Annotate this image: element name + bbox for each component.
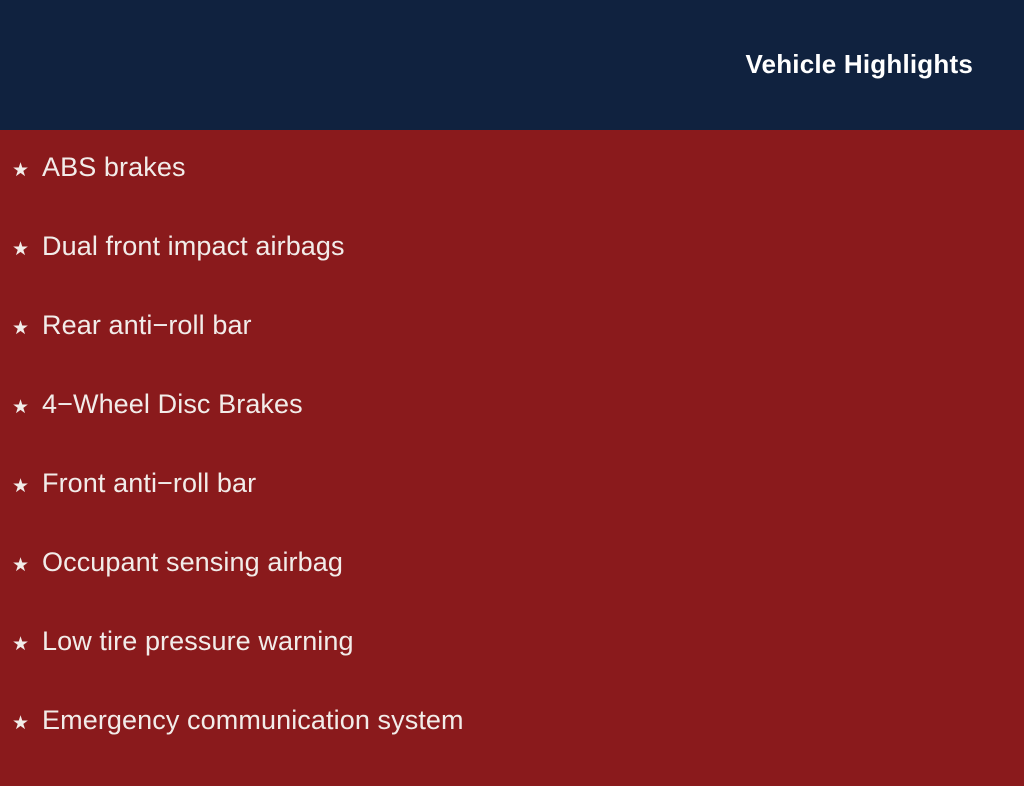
star-icon: ★ [12,319,42,338]
star-icon: ★ [12,161,42,180]
star-icon: ★ [12,240,42,259]
star-icon: ★ [12,398,42,417]
slide-body: ★ ABS brakes ★ Dual front impact airbags… [0,130,1024,768]
page-title: Vehicle Highlights [745,47,973,81]
star-icon: ★ [12,556,42,575]
list-item: ★ Occupant sensing airbag [0,549,1024,628]
slide-header: Vehicle Highlights [0,0,1024,130]
slide-canvas: Vehicle Highlights ★ ABS brakes ★ Dual f… [0,0,1024,768]
highlight-label: Emergency communication system [42,707,464,734]
list-item: ★ Front anti−roll bar [0,470,1024,549]
highlight-label: Front anti−roll bar [42,470,256,497]
highlight-label: 4−Wheel Disc Brakes [42,391,303,418]
list-item: ★ Emergency communication system [0,707,1024,786]
list-item: ★ Rear anti−roll bar [0,312,1024,391]
highlight-label: ABS brakes [42,154,186,181]
list-item: ★ ABS brakes [0,154,1024,233]
highlight-label: Dual front impact airbags [42,233,345,260]
highlight-label: Low tire pressure warning [42,628,354,655]
list-item: ★ 4−Wheel Disc Brakes [0,391,1024,470]
highlight-label: Rear anti−roll bar [42,312,252,339]
vehicle-highlights-list: ★ ABS brakes ★ Dual front impact airbags… [0,130,1024,786]
star-icon: ★ [12,635,42,654]
list-item: ★ Low tire pressure warning [0,628,1024,707]
list-item: ★ Dual front impact airbags [0,233,1024,312]
star-icon: ★ [12,477,42,496]
highlight-label: Occupant sensing airbag [42,549,343,576]
star-icon: ★ [12,714,42,733]
